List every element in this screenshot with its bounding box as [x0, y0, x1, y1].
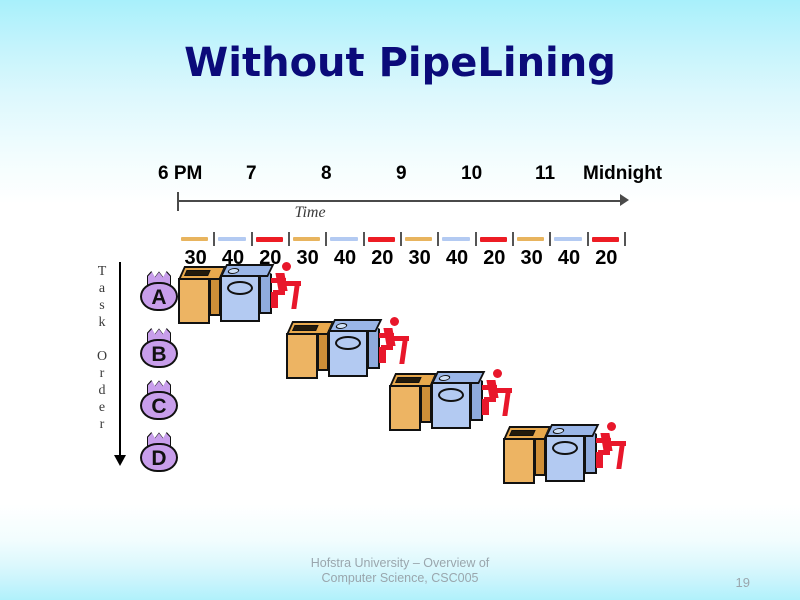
- task-group-a: [178, 258, 296, 328]
- chair: [482, 399, 487, 415]
- dryer-door: [227, 281, 253, 295]
- task-order-char-7: d: [92, 382, 112, 399]
- washer-lid-slot: [292, 325, 319, 331]
- slide: Without PipeLining 6 PM7891011Midnight T…: [0, 0, 800, 600]
- duration-tick-6: [400, 232, 402, 246]
- washer-front: [286, 333, 318, 379]
- duration-bar-dry-1: [218, 237, 245, 241]
- slide-footer: Hofstra University – Overview of Compute…: [0, 556, 800, 586]
- washer-icon: [178, 266, 222, 324]
- dryer-door: [438, 388, 464, 402]
- duration-tick-2: [251, 232, 253, 246]
- task-order-char-4: [92, 331, 112, 348]
- washer-lid-slot: [184, 270, 211, 276]
- time-label-3: 9: [396, 163, 407, 185]
- bag-label: D: [138, 447, 180, 471]
- chair: [596, 452, 601, 468]
- time-axis-line: [177, 200, 625, 202]
- washer-icon: [286, 321, 330, 379]
- time-label-0: 6 PM: [158, 163, 202, 185]
- footer-line-1: Hofstra University – Overview of: [0, 556, 800, 571]
- task-order-char-0: T: [92, 263, 112, 280]
- duration-tick-end: [624, 232, 626, 246]
- time-label-4: 10: [461, 163, 482, 185]
- pipelining-diagram: 6 PM7891011Midnight Time 304020304020304…: [0, 0, 800, 600]
- duration-bar-fold-11: [592, 237, 619, 242]
- folding-table-leg: [291, 285, 299, 309]
- footer-line-2: Computer Science, CSC005: [0, 571, 800, 586]
- task-group-c: [389, 365, 507, 435]
- duration-bar-dry-4: [330, 237, 357, 241]
- task-order-arrow-icon: [114, 455, 126, 466]
- task-order-char-1: a: [92, 280, 112, 297]
- task-order-char-6: r: [92, 365, 112, 382]
- laundry-bag-d-icon: D: [138, 433, 180, 473]
- time-label-6: Midnight: [583, 163, 662, 185]
- bag-label: B: [138, 343, 180, 367]
- duration-value-11: 20: [588, 247, 625, 270]
- person-head: [282, 262, 291, 271]
- folding-person-icon: [271, 262, 301, 320]
- duration-tick-10: [549, 232, 551, 246]
- bag-label: A: [138, 286, 180, 310]
- dryer-icon: [431, 371, 485, 431]
- task-order-char-8: e: [92, 399, 112, 416]
- task-group-b: [286, 313, 404, 383]
- duration-value-10: 40: [550, 247, 587, 270]
- washer-front: [503, 438, 535, 484]
- dryer-icon: [545, 424, 599, 484]
- task-group-d: [503, 418, 621, 488]
- task-order-axis-line: [119, 262, 121, 458]
- washer-lid-slot: [395, 377, 422, 383]
- duration-bar-dry-10: [554, 237, 581, 241]
- time-label-1: 7: [246, 163, 257, 185]
- time-axis-label: Time: [0, 204, 800, 222]
- duration-tick-3: [288, 232, 290, 246]
- person-arm: [271, 278, 286, 283]
- person-head: [493, 369, 502, 378]
- duration-bar-fold-8: [480, 237, 507, 242]
- duration-tick-4: [325, 232, 327, 246]
- duration-tick-7: [437, 232, 439, 246]
- folding-table-leg: [502, 392, 510, 416]
- duration-value-9: 30: [513, 247, 550, 270]
- duration-tick-9: [512, 232, 514, 246]
- task-order-char-2: s: [92, 297, 112, 314]
- duration-tick-11: [587, 232, 589, 246]
- slide-number: 19: [736, 575, 750, 590]
- duration-bar-wash-0: [181, 237, 208, 241]
- duration-value-4: 40: [326, 247, 363, 270]
- washer-front: [389, 385, 421, 431]
- duration-value-5: 20: [364, 247, 401, 270]
- time-label-2: 8: [321, 163, 332, 185]
- task-order-char-3: k: [92, 314, 112, 331]
- person-arm: [482, 385, 497, 390]
- task-order-char-9: r: [92, 416, 112, 433]
- washer-icon: [389, 373, 433, 431]
- person-head: [390, 317, 399, 326]
- washer-icon: [503, 426, 547, 484]
- chair: [379, 347, 384, 363]
- person-arm: [596, 438, 611, 443]
- duration-tick-5: [363, 232, 365, 246]
- dryer-door: [552, 441, 578, 455]
- duration-tick-8: [475, 232, 477, 246]
- dryer-icon: [328, 319, 382, 379]
- folding-person-icon: [596, 422, 626, 480]
- person-arm: [379, 333, 394, 338]
- duration-tick-1: [213, 232, 215, 246]
- washer-lid-slot: [509, 430, 536, 436]
- laundry-bag-c-icon: C: [138, 381, 180, 421]
- laundry-bag-a-icon: A: [138, 272, 180, 312]
- dryer-icon: [220, 264, 274, 324]
- task-order-char-5: O: [92, 348, 112, 365]
- duration-bar-wash-6: [405, 237, 432, 241]
- duration-value-6: 30: [401, 247, 438, 270]
- duration-bar-wash-9: [517, 237, 544, 241]
- laundry-bag-b-icon: B: [138, 329, 180, 369]
- dryer-door: [335, 336, 361, 350]
- task-order-label: Task Order: [92, 263, 112, 433]
- folding-table-leg: [616, 445, 624, 469]
- time-label-5: 11: [535, 163, 555, 185]
- duration-bar-fold-2: [256, 237, 283, 242]
- duration-bar-wash-3: [293, 237, 320, 241]
- duration-bar-dry-7: [442, 237, 469, 241]
- duration-value-8: 20: [476, 247, 513, 270]
- duration-bar-fold-5: [368, 237, 395, 242]
- chair: [271, 292, 276, 308]
- bag-label: C: [138, 395, 180, 419]
- person-head: [607, 422, 616, 431]
- washer-front: [178, 278, 210, 324]
- duration-value-7: 40: [438, 247, 475, 270]
- folding-table-leg: [399, 340, 407, 364]
